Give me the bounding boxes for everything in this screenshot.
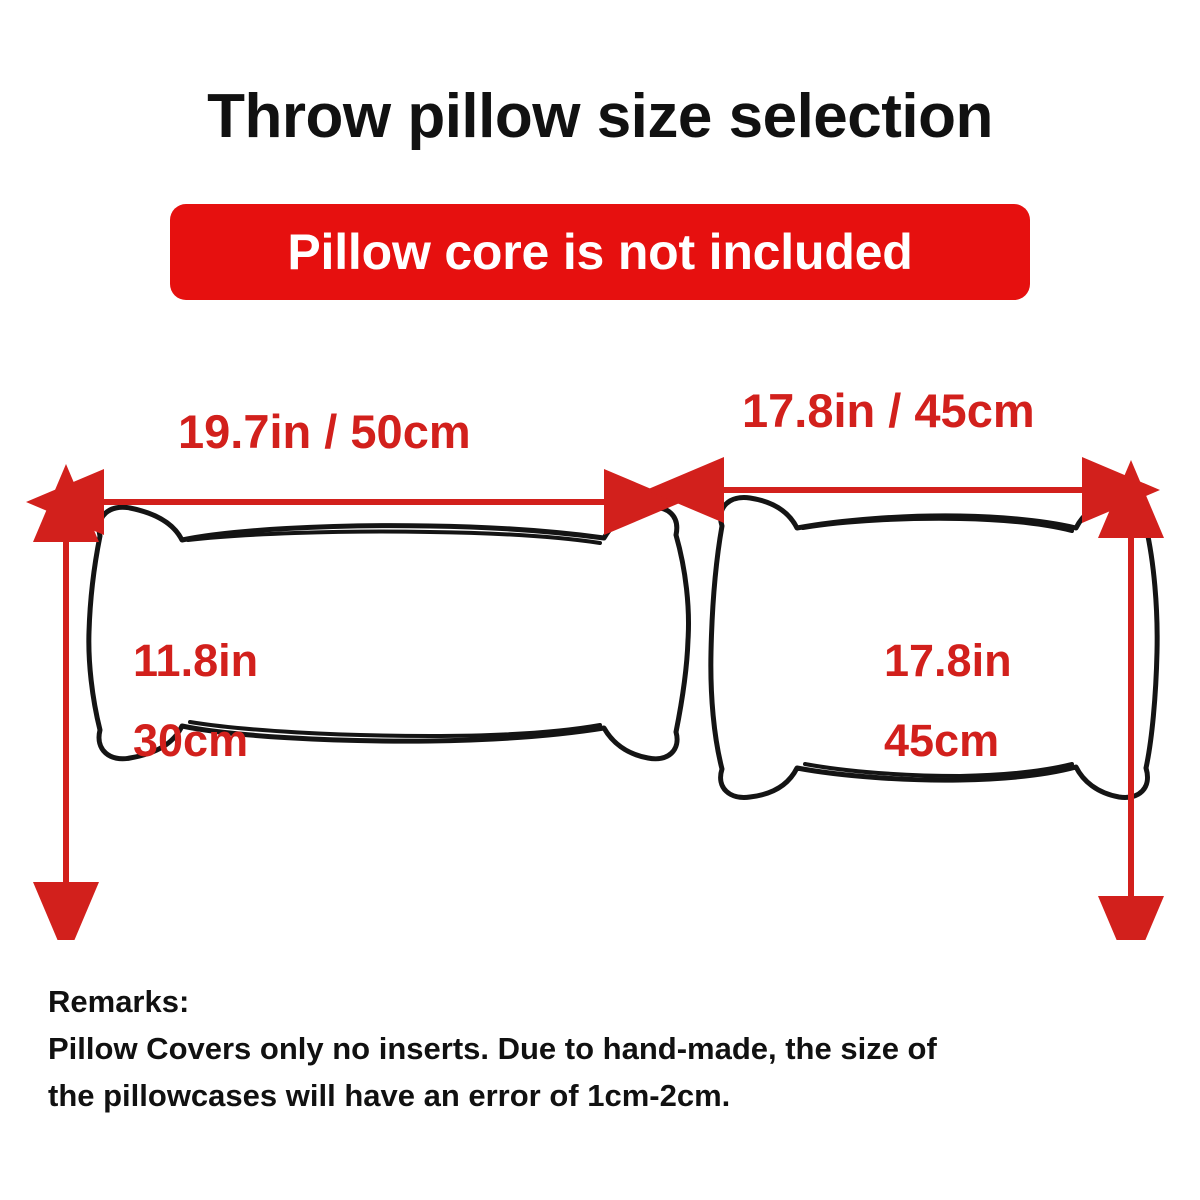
square-pillow-width-label: 17.8in / 45cm	[742, 383, 1035, 438]
remarks-line-1: Pillow Covers only no inserts. Due to ha…	[48, 1025, 1168, 1072]
rectangular-pillow-width-label: 19.7in / 50cm	[178, 404, 471, 459]
square-pillow-height-cm: 45cm	[884, 714, 999, 767]
page-title: Throw pillow size selection	[0, 84, 1200, 149]
remarks-line-2: the pillowcases will have an error of 1c…	[48, 1072, 1168, 1119]
square-pillow-height-inches: 17.8in	[884, 634, 1012, 687]
badge-label: Pillow core is not included	[287, 227, 912, 277]
pillow-core-notice-badge: Pillow core is not included	[170, 204, 1030, 300]
remarks-block: Remarks: Pillow Covers only no inserts. …	[48, 978, 1168, 1119]
rectangular-pillow-height-cm: 30cm	[133, 714, 248, 767]
remarks-heading: Remarks:	[48, 978, 1168, 1025]
rectangular-pillow-height-inches: 11.8in	[133, 634, 258, 687]
